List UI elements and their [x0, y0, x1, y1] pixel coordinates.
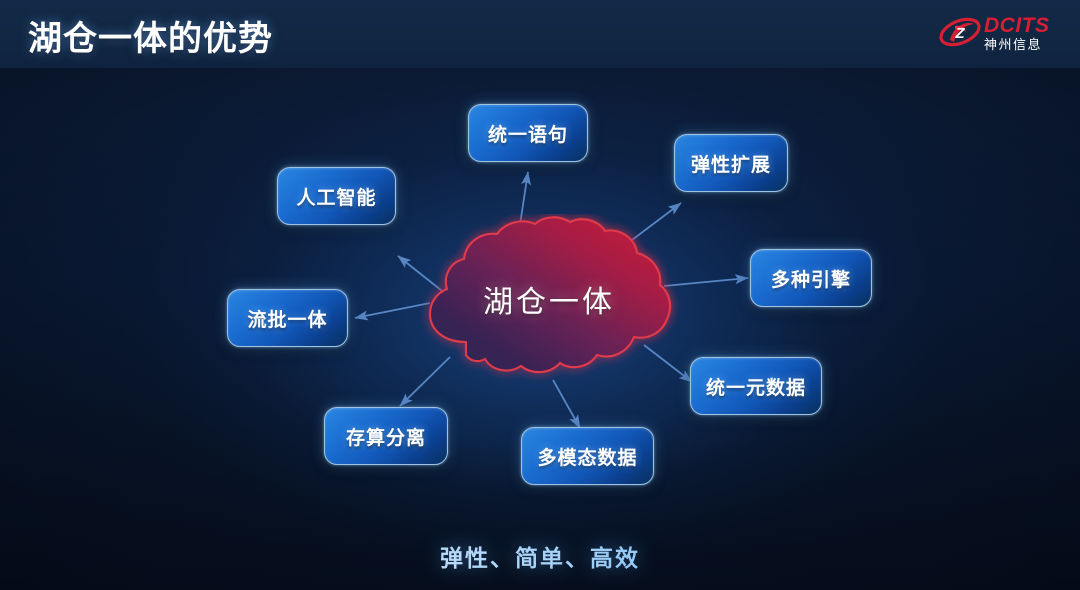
center-cloud-label: 湖仓一体: [404, 214, 694, 384]
node-unified-metadata-label: 统一元数据: [706, 373, 806, 400]
node-elastic-scaling[interactable]: 弹性扩展: [674, 134, 788, 192]
node-storage-compute-separation[interactable]: 存算分离: [324, 407, 448, 465]
node-multimodal-data[interactable]: 多模态数据: [521, 427, 654, 485]
slide-root: 湖仓一体的优势 Z DCITS 神州信息: [0, 0, 1080, 590]
node-storage-compute-separation-label: 存算分离: [346, 423, 426, 450]
node-elastic-scaling-label: 弹性扩展: [691, 150, 771, 177]
node-stream-batch-unified[interactable]: 流批一体: [227, 289, 348, 347]
node-unified-metadata[interactable]: 统一元数据: [690, 357, 822, 415]
footer-caption: 弹性、简单、高效: [0, 539, 1080, 573]
arrow-to-multimodal-data: [553, 380, 580, 428]
node-artificial-intelligence-label: 人工智能: [296, 183, 376, 210]
node-multiple-engines[interactable]: 多种引擎: [750, 249, 872, 307]
node-multimodal-data-label: 多模态数据: [537, 443, 637, 470]
mind-map-diagram: 湖仓一体 统一语句 弹性扩展 人工智能 多种引擎 流批一体 统一元数据 存算分离…: [0, 0, 1080, 590]
node-multiple-engines-label: 多种引擎: [771, 265, 851, 292]
node-stream-batch-unified-label: 流批一体: [247, 305, 327, 332]
node-artificial-intelligence[interactable]: 人工智能: [277, 167, 396, 225]
node-unified-statement[interactable]: 统一语句: [468, 104, 588, 162]
node-unified-statement-label: 统一语句: [488, 120, 568, 147]
